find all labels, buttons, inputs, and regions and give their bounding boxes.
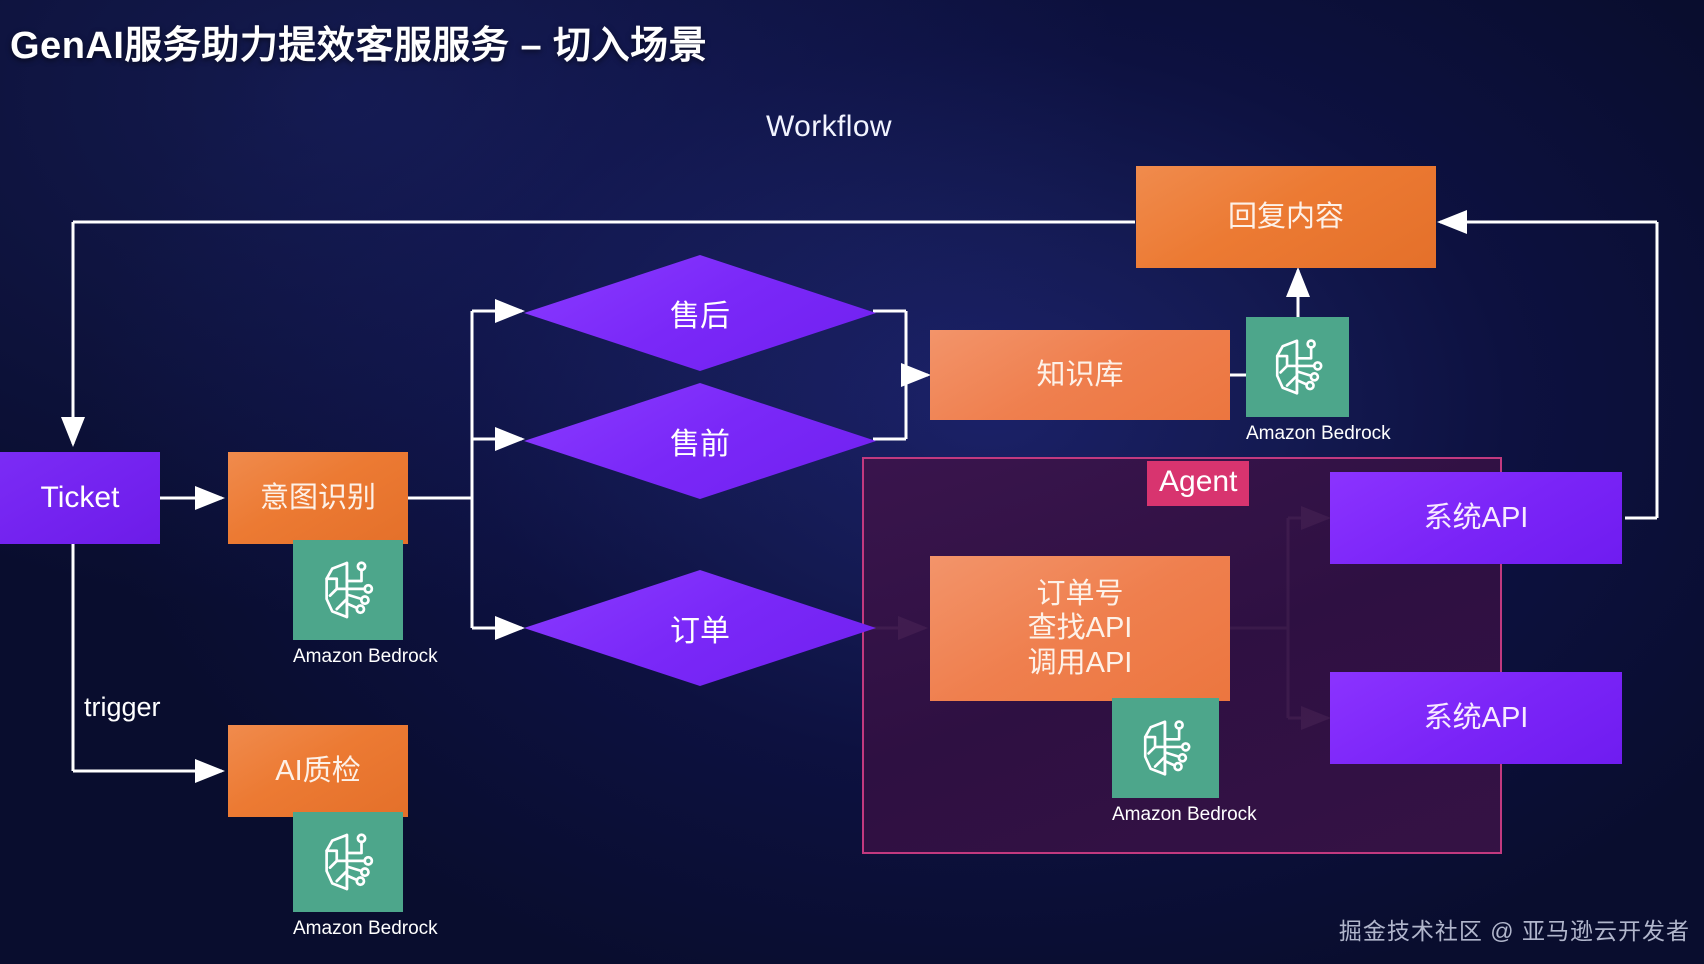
node-system-api-2-label: 系统API [1424,701,1529,735]
node-order-api-line3: 调用API [1028,646,1133,680]
node-ai-quality-check[interactable]: AI质检 [228,725,408,817]
bedrock-brain-circuit-icon [1263,332,1333,402]
node-order-api-line2: 查找API [1028,611,1133,645]
node-system-api-2[interactable]: 系统API [1330,672,1622,764]
node-ticket[interactable]: Ticket [0,452,160,544]
node-system-api-1[interactable]: 系统API [1330,472,1622,564]
slide-canvas: GenAI服务助力提效客服服务 – 切入场景 Workflow trigger [0,0,1704,964]
bedrock-brain-circuit-icon [1131,713,1201,783]
bedrock-badge-knowledge-base: Amazon Bedrock [1246,317,1391,445]
watermark: 掘金技术社区 @ 亚马逊云开发者 [1339,912,1690,946]
node-system-api-1-label: 系统API [1424,501,1529,535]
bedrock-icon-chip [293,540,403,640]
node-intent-recognition-label: 意图识别 [260,481,376,515]
node-order-api[interactable]: 订单号 查找API 调用API [930,556,1230,701]
bedrock-icon-chip [1112,698,1219,798]
page-title: GenAI服务助力提效客服服务 – 切入场景 [10,14,707,69]
node-ai-quality-check-label: AI质检 [275,754,360,788]
node-reply-content[interactable]: 回复内容 [1136,166,1436,268]
node-knowledge-base-label: 知识库 [1036,358,1123,392]
bedrock-icon-chip [293,812,403,912]
node-knowledge-base[interactable]: 知识库 [930,330,1230,420]
node-order-api-line1: 订单号 [1036,577,1123,611]
trigger-label: trigger [84,692,161,723]
node-after-sales-label: 售后 [670,291,730,335]
bedrock-badge-quality: Amazon Bedrock [293,812,438,940]
bedrock-caption: Amazon Bedrock [293,646,438,668]
workflow-label: Workflow [766,110,892,144]
node-intent-recognition[interactable]: 意图识别 [228,452,408,544]
bedrock-icon-chip [1246,317,1349,417]
node-pre-sales-label: 售前 [670,419,730,463]
bedrock-badge-order-api: Amazon Bedrock [1112,698,1257,826]
node-order-label: 订单 [670,606,730,650]
bedrock-brain-circuit-icon [312,554,384,626]
bedrock-caption: Amazon Bedrock [1246,423,1391,445]
bedrock-caption: Amazon Bedrock [293,918,438,940]
agent-label: Agent [1147,461,1249,506]
bedrock-caption: Amazon Bedrock [1112,804,1257,826]
node-reply-content-label: 回复内容 [1228,200,1344,234]
bedrock-badge-intent: Amazon Bedrock [293,540,438,668]
bedrock-brain-circuit-icon [312,826,384,898]
node-ticket-label: Ticket [41,480,120,515]
